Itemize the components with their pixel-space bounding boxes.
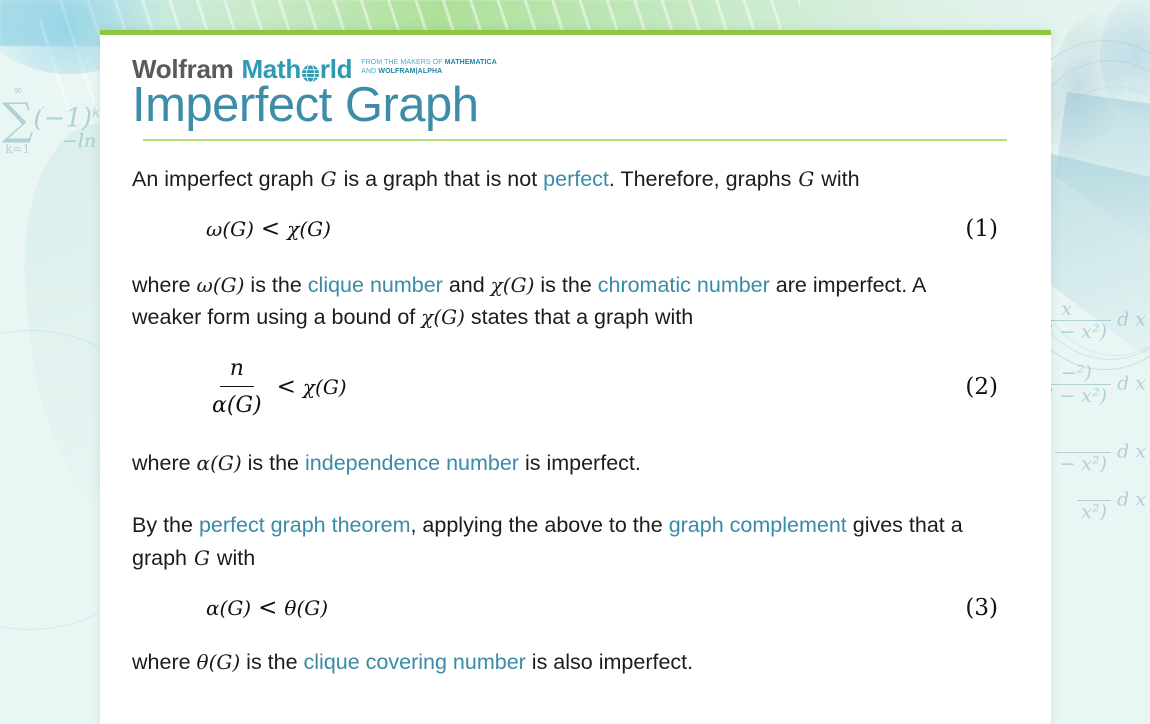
tagline-line2-pre: and (361, 68, 378, 75)
text-run: is a graph that is not (338, 167, 544, 191)
text-run: where (132, 451, 197, 475)
tagline-mathematica: Mathematica (445, 59, 497, 66)
text-run: states that a graph with (465, 305, 693, 329)
text-run: An imperfect graph (132, 167, 320, 191)
text-run: and (443, 273, 491, 297)
link-independence-number[interactable]: independence number (305, 451, 519, 475)
logo-tagline: From the makers of Mathematica and Wolfr… (361, 58, 497, 76)
math-var-G: G (193, 546, 211, 570)
paragraph-clique-covering: where θ(G) is the clique covering number… (132, 646, 1000, 679)
text-run: where (132, 650, 197, 674)
text-run: is the (240, 650, 303, 674)
equation-2-number: (2) (965, 370, 998, 405)
bg-formula-integral-2: −²) ² − x²) d x (1042, 362, 1146, 407)
text-run: is imperfect. (519, 451, 641, 475)
bg-sum-limits: ∞ ∑ k=1 (2, 84, 33, 155)
bg-dx: d x (1117, 441, 1146, 463)
math-alpha-G: α(G) (206, 593, 251, 623)
equation-2-row: n α(G) < χ(G) (2) (132, 352, 1000, 423)
equation-2-body: n α(G) < χ(G) (206, 352, 347, 423)
text-run: with (815, 167, 859, 191)
math-chi-G: χ(G) (491, 273, 535, 297)
paragraph-definition: An imperfect graph G is a graph that is … (132, 163, 1000, 196)
math-chi-G: χ(G) (303, 372, 347, 402)
text-run: By the (132, 513, 199, 537)
text-run: . Therefore, graphs (609, 167, 797, 191)
bg-formula-integral-3: − x²) d x (1055, 430, 1146, 475)
math-var-G: G (320, 167, 338, 191)
fraction-denominator: α(G) (206, 387, 268, 422)
page-title: Imperfect Graph (132, 78, 1017, 133)
math-operator-lt: < (270, 370, 303, 405)
link-perfect[interactable]: perfect (543, 167, 609, 191)
bg-fraction: − x²) (1055, 430, 1111, 475)
math-theta-G: θ(G) (197, 650, 241, 674)
text-run: where (132, 273, 197, 297)
tagline-line1-pre: From the makers of (361, 59, 444, 66)
math-omega-G: ω(G) (197, 273, 245, 297)
math-alpha-G: α(G) (197, 451, 242, 475)
math-chi-G: χ(G) (287, 214, 331, 244)
math-operator-lt: < (254, 212, 287, 247)
text-run: with (211, 546, 255, 570)
link-clique-number[interactable]: clique number (308, 273, 443, 297)
text-run: is the (244, 273, 307, 297)
text-run: is the (242, 451, 305, 475)
math-var-G: G (797, 167, 815, 191)
link-clique-covering-number[interactable]: clique covering number (304, 650, 526, 674)
bg-formula-ln: −ln (62, 130, 96, 152)
tagline-wolfram-alpha: Wolfram|Alpha (378, 68, 442, 75)
text-run: is also imperfect. (526, 650, 693, 674)
math-fraction-n-over-alpha-G: n α(G) (206, 352, 268, 423)
article-card: Wolfram Math rld From the makers of Math… (100, 30, 1051, 724)
equation-1-body: ω(G) < χ(G) (206, 212, 331, 247)
equation-3-body: α(G) < θ(G) (206, 591, 328, 626)
bg-fraction: x²) (1077, 478, 1111, 523)
link-graph-complement[interactable]: graph complement (669, 513, 847, 537)
math-theta-G: θ(G) (284, 593, 328, 623)
text-run: is the (534, 273, 597, 297)
math-operator-lt: < (251, 591, 284, 626)
bg-fraction: −²) ² − x²) (1042, 362, 1111, 407)
link-perfect-graph-theorem[interactable]: perfect graph theorem (199, 513, 411, 537)
equation-1-number: (1) (965, 212, 998, 247)
title-divider (143, 139, 1007, 141)
article-body: An imperfect graph G is a graph that is … (132, 163, 1017, 678)
paragraph-independence: where α(G) is the independence number is… (132, 447, 1000, 480)
equation-1-row: ω(G) < χ(G) (1) (132, 212, 1000, 247)
text-run: , applying the above to the (410, 513, 668, 537)
math-chi-G: χ(G) (421, 305, 465, 329)
equation-3-row: α(G) < θ(G) (3) (132, 591, 1000, 626)
link-chromatic-number[interactable]: chromatic number (598, 273, 770, 297)
fraction-numerator: n (220, 352, 254, 387)
math-omega-G: ω(G) (206, 214, 254, 244)
equation-3-number: (3) (965, 591, 998, 626)
mathworld-logo[interactable]: Wolfram Math rld From the makers of Math… (132, 35, 1017, 69)
paragraph-clique-chromatic: where ω(G) is the clique number and χ(G)… (132, 269, 1000, 334)
bg-dx: d x (1117, 309, 1146, 331)
bg-dx: d x (1117, 373, 1146, 395)
bg-formula-integral-4: x²) d x (1077, 478, 1146, 523)
paragraph-perfect-graph-theorem: By the perfect graph theorem, applying t… (132, 509, 1000, 574)
bg-dx: d x (1117, 489, 1146, 511)
globe-icon (301, 61, 320, 80)
